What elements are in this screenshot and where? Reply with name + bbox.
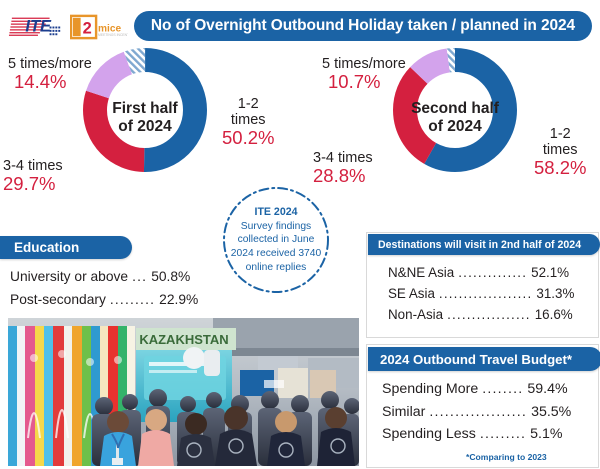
donut-first-center-label: First half of 2024: [95, 100, 195, 136]
destinations-row: Non-Asia ................. 16.6%: [388, 304, 593, 325]
budget-stat-list: Spending More ........ 59.4% Similar ...…: [382, 378, 592, 446]
ite-logo: ITE: [8, 12, 66, 42]
survey-line-3: collected in June: [238, 233, 315, 247]
header-title-pill: No of Overnight Outbound Holiday taken /…: [134, 11, 592, 41]
svg-text:MEETINGS INCENTIVES: MEETINGS INCENTIVES: [98, 33, 128, 37]
destinations-row-dots: ...................: [439, 283, 533, 304]
survey-line-5: online replies: [246, 261, 307, 275]
destinations-row-dots: .................: [447, 304, 531, 325]
destinations-row-name: SE Asia: [388, 283, 435, 304]
budget-row-name: Spending More: [382, 378, 478, 401]
education-row: Post-secondary ......... 22.9%: [10, 289, 215, 312]
destinations-row: N&NE Asia .............. 52.1%: [388, 262, 593, 283]
donut-second-label-5-times-more: 5 times/more 10.7%: [322, 56, 406, 93]
trade-show-photo: KAZAKHSTAN: [8, 318, 359, 466]
budget-row-dots: ........: [482, 378, 523, 401]
budget-footnote: *Comparing to 2023: [466, 452, 547, 462]
donut-first-label-3-4-times: 3-4 times 29.7%: [3, 158, 63, 195]
survey-line-2: Survey findings: [241, 220, 311, 234]
destinations-row-value: 52.1%: [531, 262, 569, 283]
education-heading: Education: [14, 240, 79, 255]
donut-first-center-line1: First half: [112, 100, 177, 117]
education-stat-list: University or above ... 50.8% Post-secon…: [10, 266, 215, 312]
budget-row: Similar ................... 35.5%: [382, 401, 592, 424]
budget-row-name: Similar: [382, 401, 425, 424]
budget-row-value: 5.1%: [530, 423, 562, 446]
infographic-canvas: ITE 2 mice MEETINGS INCENTIVES No of Ove…: [0, 0, 600, 469]
education-row-value: 50.8%: [151, 266, 190, 289]
donut-second-center-label: Second half of 2024: [390, 100, 520, 136]
svg-text:2: 2: [83, 19, 92, 37]
photo-artwork: KAZAKHSTAN: [8, 318, 359, 466]
education-row: University or above ... 50.8%: [10, 266, 215, 289]
education-row-dots: .........: [110, 289, 155, 312]
destinations-heading: Destinations will visit in 2nd half of 2…: [378, 239, 581, 251]
destinations-row-value: 16.6%: [535, 304, 573, 325]
budget-row-dots: ...................: [429, 401, 527, 424]
destinations-row: SE Asia ................... 31.3%: [388, 283, 593, 304]
education-row-name: University or above: [10, 266, 128, 289]
i2mice-logo: 2 mice MEETINGS INCENTIVES: [70, 12, 128, 42]
survey-findings-badge: ITE 2024 Survey findings collected in Ju…: [221, 185, 331, 295]
budget-row-value: 59.4%: [527, 378, 567, 401]
budget-row-name: Spending Less: [382, 423, 476, 446]
budget-row: Spending Less ......... 5.1%: [382, 423, 592, 446]
svg-text:ITE: ITE: [25, 17, 52, 35]
survey-line-4: 2024 received 3740: [231, 247, 321, 261]
donut-second-label-1-2-times: 1-2 times 58.2%: [534, 126, 586, 179]
page-title: No of Overnight Outbound Holiday taken /…: [151, 17, 575, 35]
donut-second-center-line2: of 2024: [428, 118, 481, 135]
education-row-value: 22.9%: [159, 289, 198, 312]
education-heading-pill: Education: [0, 236, 132, 259]
destinations-heading-pill: Destinations will visit in 2nd half of 2…: [368, 234, 600, 255]
budget-row-value: 35.5%: [531, 401, 571, 424]
education-row-dots: ...: [132, 266, 147, 289]
education-row-name: Post-secondary: [10, 289, 106, 312]
destinations-stat-list: N&NE Asia .............. 52.1% SE Asia .…: [388, 262, 593, 326]
destinations-row-name: Non-Asia: [388, 304, 443, 325]
svg-text:mice: mice: [98, 23, 121, 34]
donut-second-label-3-4-times: 3-4 times 28.8%: [313, 150, 373, 187]
destinations-row-value: 31.3%: [536, 283, 574, 304]
logo-group: ITE 2 mice MEETINGS INCENTIVES: [8, 10, 126, 44]
donut-first-label-1-2-times: 1-2 times 50.2%: [222, 96, 274, 149]
budget-heading-pill: 2024 Outbound Travel Budget*: [368, 347, 600, 371]
budget-row-dots: .........: [480, 423, 526, 446]
budget-heading: 2024 Outbound Travel Budget*: [380, 352, 572, 367]
donut-second-center-line1: Second half: [411, 100, 499, 117]
donut-first-center-line2: of 2024: [118, 118, 171, 135]
photo-banner-text: KAZAKHSTAN: [139, 332, 228, 347]
survey-findings-text: ITE 2024 Survey findings collected in Ju…: [221, 185, 331, 295]
survey-line-1: ITE 2024: [255, 206, 298, 220]
destinations-row-name: N&NE Asia: [388, 262, 454, 283]
destinations-row-dots: ..............: [458, 262, 527, 283]
donut-first-label-5-times-more: 5 times/more 14.4%: [8, 56, 92, 93]
budget-row: Spending More ........ 59.4%: [382, 378, 592, 401]
